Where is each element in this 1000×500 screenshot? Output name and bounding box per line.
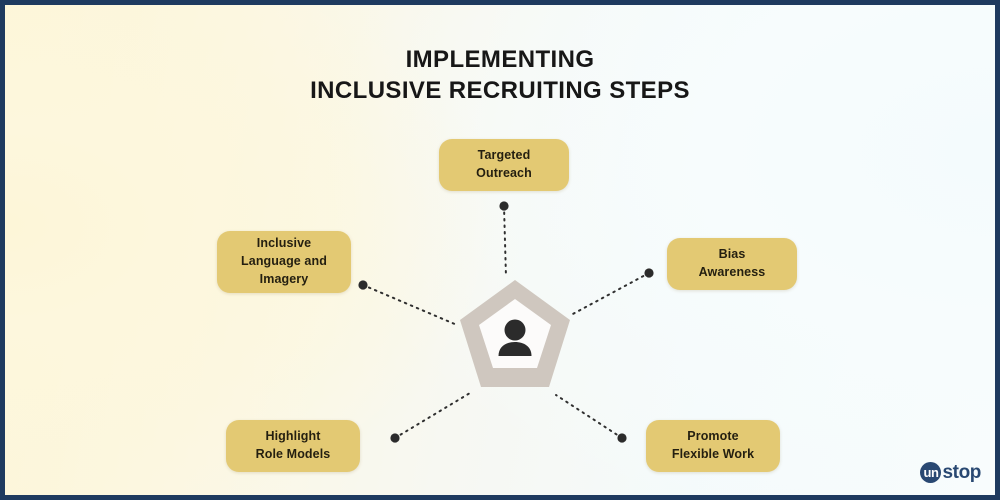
- connector-highlight-role-models: [395, 393, 470, 438]
- connector-dot-bias-awareness: [644, 268, 653, 277]
- node-targeted-outreach[interactable]: Targeted Outreach: [439, 139, 569, 191]
- page-title: IMPLEMENTING INCLUSIVE RECRUITING STEPS: [5, 45, 995, 106]
- node-bias-awareness[interactable]: Bias Awareness: [667, 238, 797, 290]
- title-line-1: IMPLEMENTING: [5, 45, 995, 76]
- center-pentagon-node: [457, 277, 573, 393]
- node-label-targeted-outreach: Targeted Outreach: [476, 147, 532, 183]
- node-label-bias-awareness: Bias Awareness: [699, 246, 766, 282]
- logo-text: stop: [942, 463, 981, 482]
- unstop-logo[interactable]: un stop: [920, 462, 981, 483]
- infographic-canvas: IMPLEMENTING INCLUSIVE RECRUITING STEPS: [0, 0, 1000, 500]
- connector-dot-targeted-outreach: [499, 201, 508, 210]
- connector-dot-promote-flexible-work: [617, 433, 626, 442]
- connector-dot-inclusive-language-imagery: [358, 280, 367, 289]
- connector-inclusive-language-imagery: [363, 285, 457, 325]
- node-inclusive-language-imagery[interactable]: Inclusive Language and Imagery: [217, 231, 351, 293]
- logo-mark-icon: un: [920, 462, 941, 483]
- connector-promote-flexible-work: [556, 395, 622, 438]
- node-label-highlight-role-models: Highlight Role Models: [256, 428, 331, 464]
- node-label-promote-flexible-work: Promote Flexible Work: [672, 428, 754, 464]
- title-line-2: INCLUSIVE RECRUITING STEPS: [5, 76, 995, 107]
- node-label-inclusive-language-imagery: Inclusive Language and Imagery: [241, 235, 327, 288]
- node-highlight-role-models[interactable]: Highlight Role Models: [226, 420, 360, 472]
- connector-dot-highlight-role-models: [390, 433, 399, 442]
- node-promote-flexible-work[interactable]: Promote Flexible Work: [646, 420, 780, 472]
- connector-targeted-outreach: [504, 206, 506, 277]
- connector-bias-awareness: [571, 273, 649, 315]
